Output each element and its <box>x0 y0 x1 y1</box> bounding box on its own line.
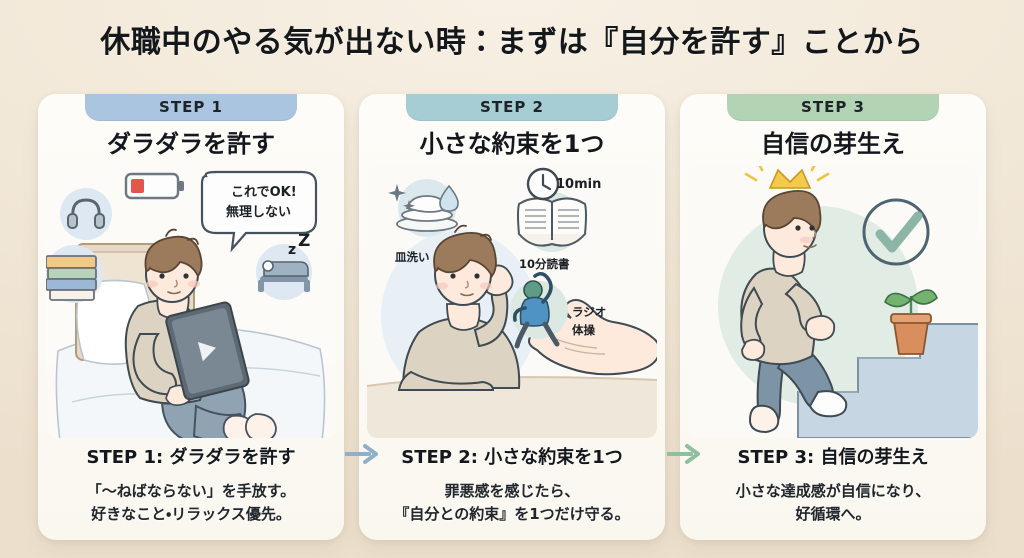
svg-text:ラジオ: ラジオ <box>572 305 606 319</box>
caption-line: 『自分との約束』を1つだけ守る。 <box>359 503 665 526</box>
svg-text:10分読書: 10分読書 <box>519 257 570 271</box>
page-title-wrapper: 休職中のやる気が出ない時：まずは『自分を許す』ことから <box>0 17 1024 61</box>
page-title: 休職中のやる気が出ない時：まずは『自分を許す』ことから <box>100 17 924 61</box>
step-caption-title-3: STEP 3: 自信の芽生え <box>734 443 933 470</box>
svg-text:これでOK!: これでOK! <box>231 185 297 200</box>
caption-line: 「〜ねばならない」を手放す。 <box>38 480 344 503</box>
caption-line: 好きなこと・リラックス優先。 <box>38 503 344 526</box>
step-heading-3: 自信の芽生え <box>680 124 986 159</box>
step-caption-body-3: 小さな達成感が自信になり、 好循環へ。 <box>680 480 986 527</box>
svg-text:10min: 10min <box>556 177 601 192</box>
caption-line: 好循環へ。 <box>680 503 986 526</box>
step-illustration-3 <box>688 166 978 438</box>
step-card-3[interactable]: STEP 3 自信の芽生え <box>680 94 986 540</box>
step-caption-body-2: 罪悪感を感じたら、 『自分との約束』を1つだけ守る。 <box>359 480 665 527</box>
step-caption-3: STEP 3: 自信の芽生え 小さな達成感が自信になり、 好循環へ。 <box>680 443 986 527</box>
arrow-step1-to-step2 <box>345 443 381 465</box>
step-card-2[interactable]: STEP 2 小さな約束を1つ <box>359 94 665 540</box>
step-heading-1: ダラダラを許す <box>38 124 344 159</box>
svg-text:体操: 体操 <box>572 323 595 337</box>
poster-root: 休職中のやる気が出ない時：まずは『自分を許す』ことから STEP 1 ダラダラを… <box>0 0 1024 558</box>
steps-row: STEP 1 ダラダラを許す <box>38 94 986 540</box>
step-caption-body-1: 「〜ねばならない」を手放す。 好きなこと・リラックス優先。 <box>38 480 344 527</box>
step-caption-title-1: STEP 1: ダラダラを許す <box>83 443 300 470</box>
step-illustration-2: 皿洗い <box>367 166 657 438</box>
step-badge-1: STEP 1 <box>85 94 297 121</box>
step-badge-2: STEP 2 <box>406 94 618 121</box>
caption-line: 罪悪感を感じたら、 <box>359 480 665 503</box>
step-badge-3: STEP 3 <box>727 94 939 121</box>
caption-line: 小さな達成感が自信になり、 <box>680 480 986 503</box>
step-heading-2: 小さな約束を1つ <box>359 124 665 159</box>
svg-text:z: z <box>288 242 296 258</box>
step-illustration-1: z Z これでOK! 無理しない <box>46 166 336 438</box>
svg-text:皿洗い: 皿洗い <box>395 250 430 264</box>
arrow-step2-to-step3 <box>667 443 703 465</box>
step-card-1[interactable]: STEP 1 ダラダラを許す <box>38 94 344 540</box>
step-caption-title-2: STEP 2: 小さな約束を1つ <box>397 443 627 470</box>
svg-text:無理しない: 無理しない <box>226 204 291 220</box>
step-caption-1: STEP 1: ダラダラを許す 「〜ねばならない」を手放す。 好きなこと・リラッ… <box>38 443 344 527</box>
step-caption-2: STEP 2: 小さな約束を1つ 罪悪感を感じたら、 『自分との約束』を1つだけ… <box>359 443 665 527</box>
